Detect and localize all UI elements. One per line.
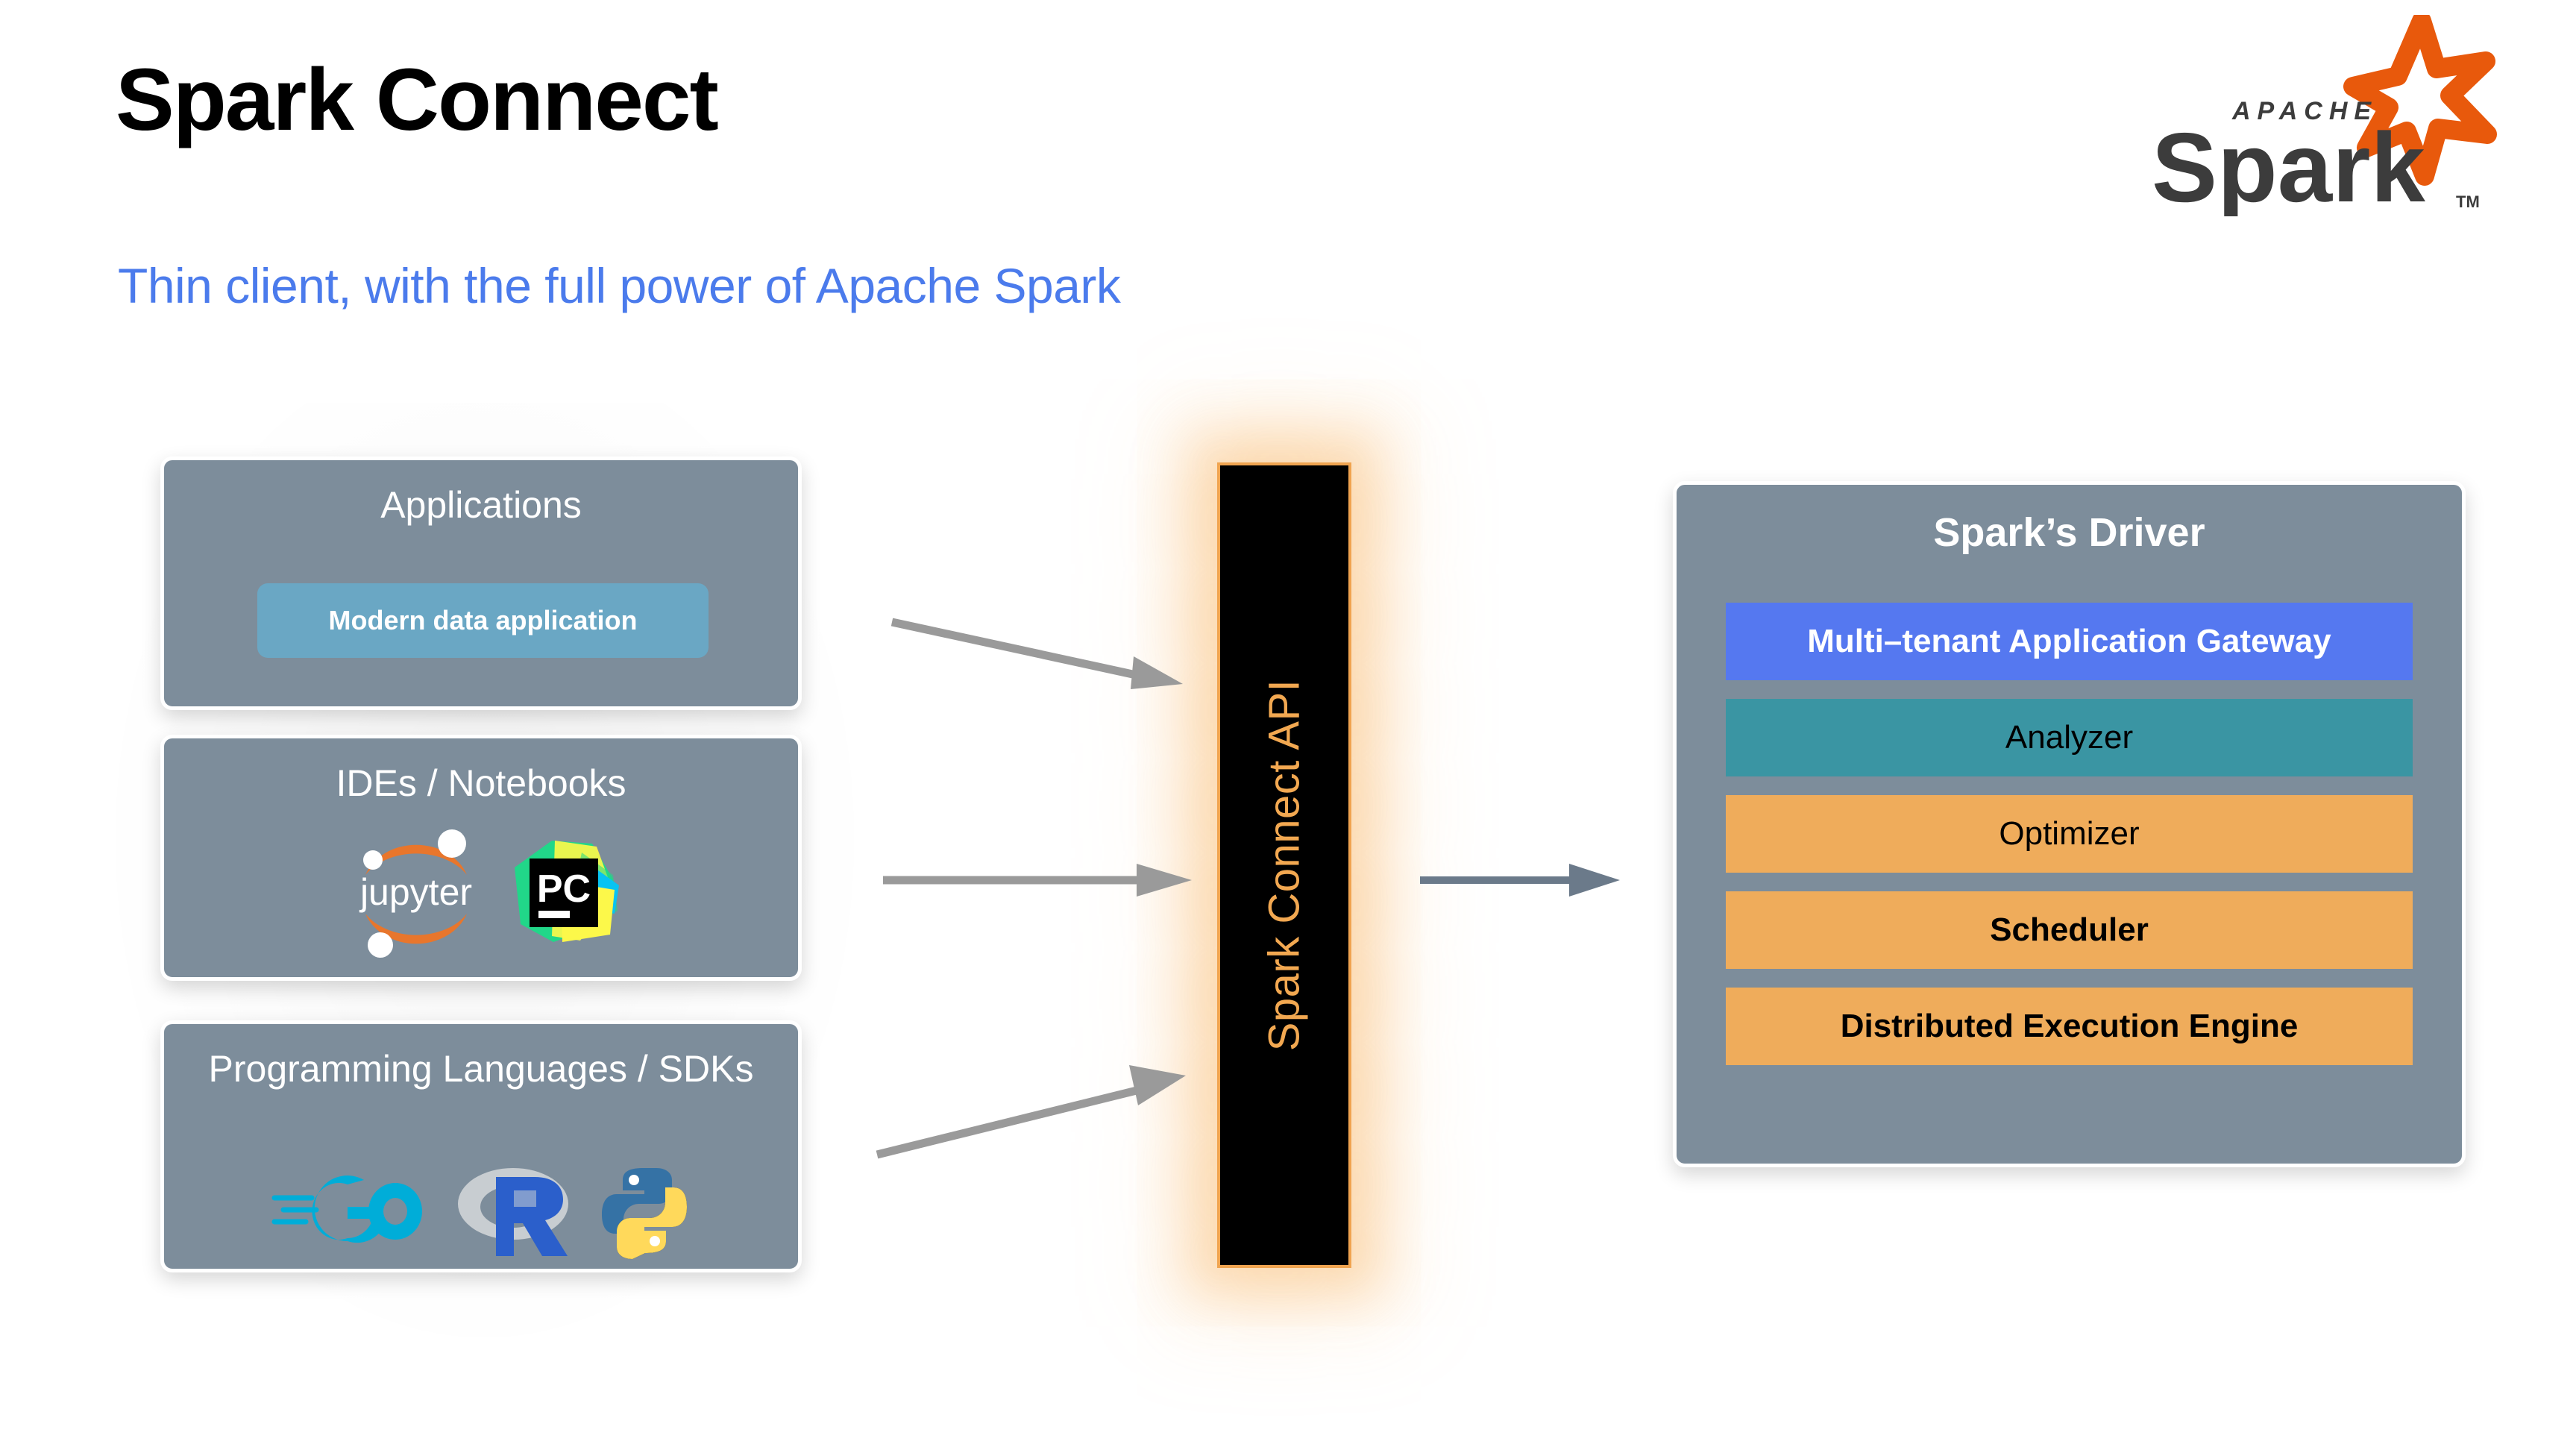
driver-row-execution-engine[interactable]: Distributed Execution Engine — [1726, 988, 2413, 1065]
jupyter-logo: jupyter — [342, 821, 491, 967]
panel-spark-driver[interactable]: Spark’s Driver Multi–tenant Application … — [1673, 481, 2466, 1167]
driver-row-gateway[interactable]: Multi–tenant Application Gateway — [1726, 603, 2413, 680]
go-logo — [270, 1170, 430, 1255]
apache-spark-logo: APACHE Spark TM — [2129, 15, 2502, 216]
panel-applications-title: Applications — [164, 484, 798, 526]
language-logo-row — [164, 1162, 798, 1263]
panel-languages-title: Programming Languages / SDKs — [164, 1048, 798, 1090]
page-title: Spark Connect — [116, 56, 717, 144]
panel-applications[interactable]: Applications Modern data application — [160, 456, 802, 710]
panel-programming-languages[interactable]: Programming Languages / SDKs — [160, 1020, 802, 1272]
svg-text:TM: TM — [2456, 192, 2480, 211]
spark-connect-api-label: Spark Connect API — [1260, 679, 1310, 1052]
svg-text:Spark: Spark — [2152, 113, 2425, 216]
svg-text:jupyter: jupyter — [359, 871, 472, 913]
modern-data-application-chip[interactable]: Modern data application — [257, 583, 709, 658]
panel-driver-title: Spark’s Driver — [1677, 510, 2462, 555]
panel-ides-notebooks[interactable]: IDEs / Notebooks jupyter — [160, 735, 802, 981]
driver-row-optimizer[interactable]: Optimizer — [1726, 795, 2413, 873]
driver-row-analyzer[interactable]: Analyzer — [1726, 699, 2413, 776]
arrow-languages-to-api — [873, 1059, 1201, 1164]
python-logo — [596, 1162, 693, 1263]
r-logo — [450, 1162, 577, 1263]
arrow-applications-to-api — [888, 612, 1201, 694]
driver-row-list: Multi–tenant Application Gateway Analyze… — [1726, 603, 2413, 1065]
pycharm-logo: PC — [509, 836, 621, 952]
ide-logo-row: jupyter PC — [164, 821, 798, 967]
page-subtitle: Thin client, with the full power of Apac… — [118, 261, 1120, 310]
driver-row-scheduler[interactable]: Scheduler — [1726, 891, 2413, 969]
arrow-ides-to-api — [880, 858, 1201, 903]
panel-ides-title: IDEs / Notebooks — [164, 762, 798, 804]
arrow-api-to-driver — [1417, 858, 1626, 903]
spark-connect-api-bar[interactable]: Spark Connect API — [1217, 462, 1351, 1268]
svg-text:PC: PC — [537, 867, 591, 911]
slide-canvas: Spark Connect Thin client, with the full… — [0, 0, 2576, 1447]
